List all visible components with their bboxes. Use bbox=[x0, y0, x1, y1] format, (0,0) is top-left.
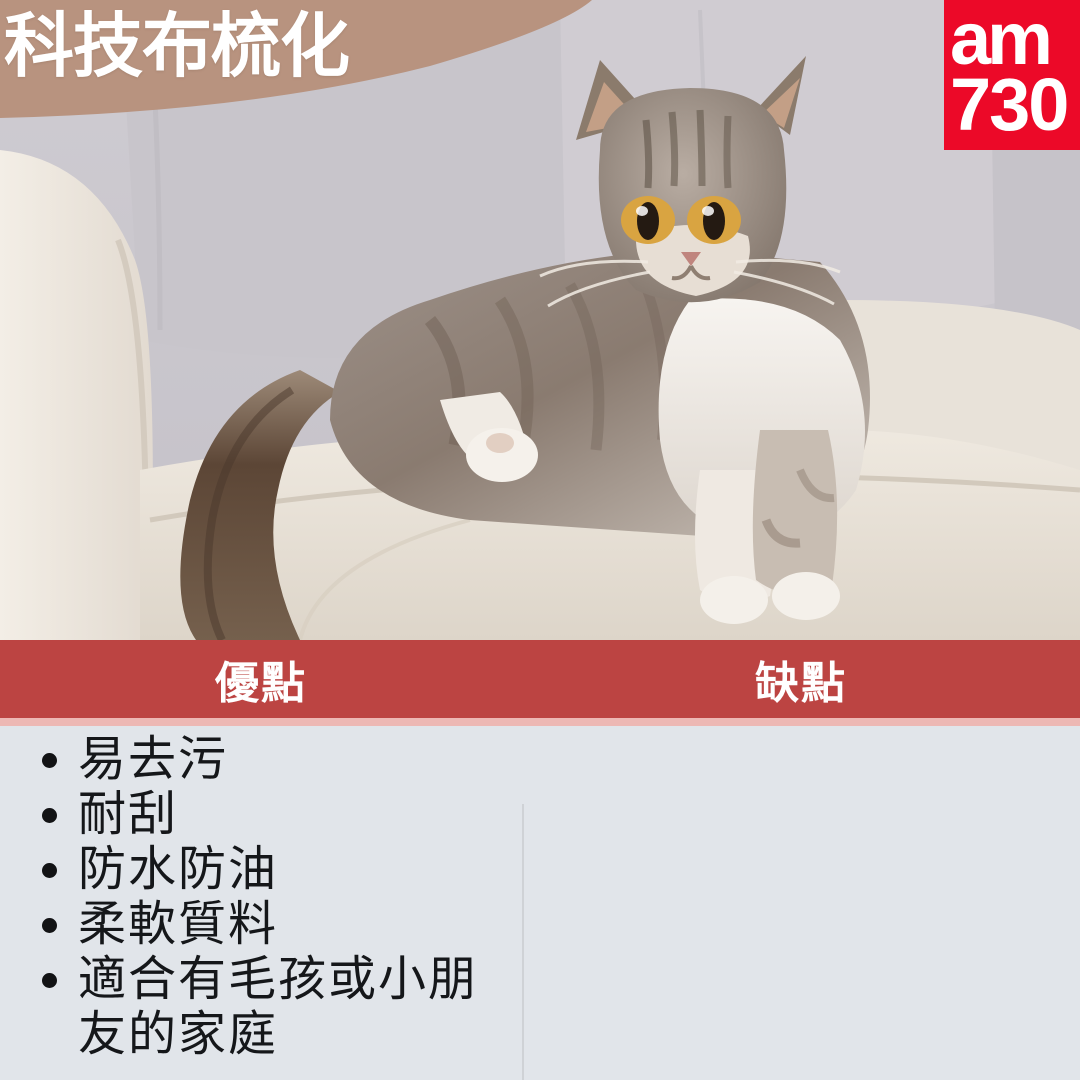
list-item: 易去污 bbox=[0, 732, 522, 787]
bullet-icon bbox=[42, 753, 57, 768]
list-item-label: 易去污 bbox=[78, 733, 228, 786]
bullet-icon bbox=[42, 808, 57, 823]
cat-on-sofa-photo bbox=[0, 0, 1080, 640]
list-item: 適合有毛孩或小朋友的家庭 bbox=[0, 952, 522, 1062]
bullet-icon bbox=[42, 973, 57, 988]
column-header-pros: 優點 bbox=[0, 640, 522, 718]
pros-column: 易去污 耐刮 防水防油 柔軟質料 bbox=[0, 718, 522, 1080]
column-header-cons: 缺點 bbox=[522, 640, 1080, 718]
table-header-row: 優點 缺點 bbox=[0, 640, 1080, 718]
list-item: 柔軟質料 bbox=[0, 897, 522, 952]
logo-text-730: 730 bbox=[950, 70, 1067, 140]
photo-illustration bbox=[0, 0, 1080, 640]
list-item-label: 適合有毛孩或小朋友的家庭 bbox=[78, 953, 478, 1061]
pros-list: 易去污 耐刮 防水防油 柔軟質料 bbox=[0, 732, 522, 1062]
table-body: 易去污 耐刮 防水防油 柔軟質料 bbox=[0, 718, 1080, 1080]
list-item: 耐刮 bbox=[0, 787, 522, 842]
bullet-icon bbox=[42, 918, 57, 933]
list-item: 防水防油 bbox=[0, 842, 522, 897]
logo-text-am: am bbox=[950, 8, 1049, 70]
cons-column: 容易發黃 有機會滲色 容易顯髒 bbox=[522, 718, 1080, 1080]
am730-logo[interactable]: am 730 bbox=[944, 0, 1080, 150]
infographic-card: 科技布梳化 am 730 優點 缺點 易去污 耐刮 bbox=[0, 0, 1080, 1080]
pros-cons-table: 優點 缺點 易去污 耐刮 防水防油 bbox=[0, 640, 1080, 1080]
page-title: 科技布梳化 bbox=[4, 6, 349, 86]
list-item-label: 防水防油 bbox=[78, 843, 278, 896]
cons-list: 容易發黃 有機會滲色 容易顯髒 bbox=[1062, 744, 1080, 1080]
list-item-label: 耐刮 bbox=[78, 788, 178, 841]
list-item: 容易發黃 bbox=[1062, 744, 1080, 964]
bullet-icon bbox=[42, 863, 57, 878]
list-item: 有機會滲色 bbox=[1062, 997, 1080, 1080]
list-item-label: 柔軟質料 bbox=[78, 898, 278, 951]
